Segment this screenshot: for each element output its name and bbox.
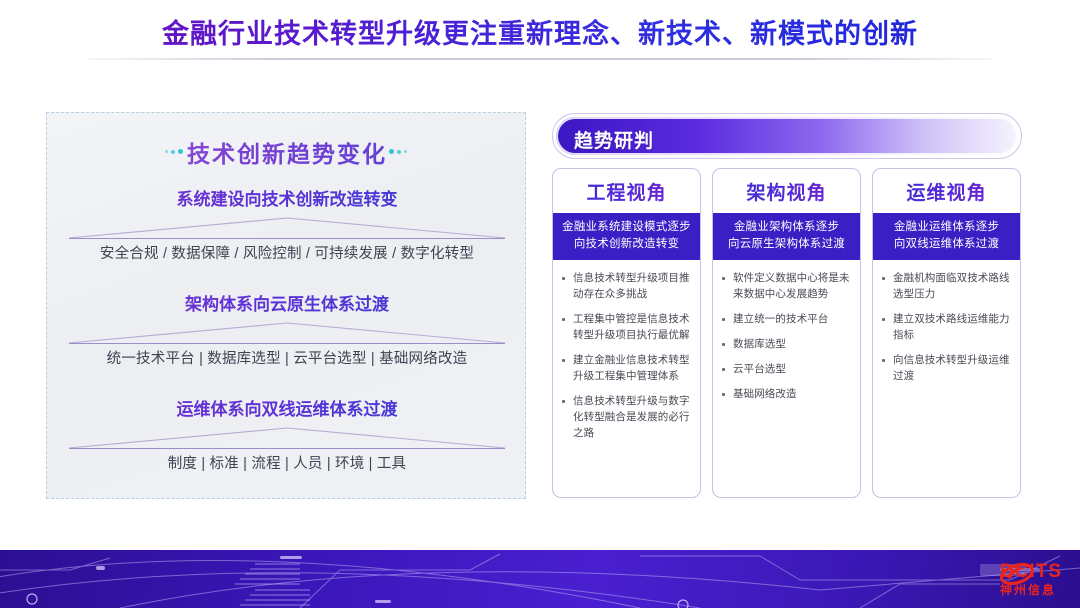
card-3-title: 运维视角	[873, 169, 1020, 213]
card-architecture-perspective[interactable]: 架构视角 金融业架构体系逐步 向云原生架构体系过渡 软件定义数据中心将是未来数据…	[712, 168, 861, 498]
trend-group-1-title: 系统建设向技术创新改造转变	[47, 185, 527, 210]
slide-header: 金融行业技术转型升级更注重新理念、新技术、新模式的创新	[0, 0, 1080, 62]
card-1-band-line-2: 向技术创新改造转变	[558, 236, 695, 253]
list-item: 信息技术转型升级项目推动存在众多挑战	[560, 270, 692, 302]
trend-group-2: 架构体系向云原生体系过渡 统一技术平台 | 数据库选型 | 云平台选型 | 基础…	[47, 290, 527, 368]
list-item: 向信息技术转型升级运维过渡	[880, 352, 1012, 384]
trend-group-2-title: 架构体系向云原生体系过渡	[47, 290, 527, 315]
list-item: 金融机构面临双技术路线选型压力	[880, 270, 1012, 302]
list-item: 工程集中管控是信息技术转型升级项目执行最优解	[560, 311, 692, 343]
trend-banner-label: 趋势研判	[574, 126, 654, 153]
card-engineering-perspective[interactable]: 工程视角 金融业系统建设模式逐步 向技术创新改造转变 信息技术转型升级项目推动存…	[552, 168, 701, 498]
chevron-up-icon-2	[67, 321, 507, 345]
list-item: 基础网络改造	[720, 386, 852, 402]
card-3-body: 金融机构面临双技术路线选型压力 建立双技术路线运维能力指标 向信息技术转型升级运…	[873, 260, 1020, 497]
card-1-band: 金融业系统建设模式逐步 向技术创新改造转变	[553, 213, 700, 260]
left-panel-heading: 技术创新趋势变化	[47, 135, 527, 169]
card-2-title: 架构视角	[713, 169, 860, 213]
chevron-up-icon-3	[67, 426, 507, 450]
card-2-band-line-2: 向云原生架构体系过渡	[718, 236, 855, 253]
card-3-band: 金融业运维体系逐步 向双线运维体系过渡	[873, 213, 1020, 260]
card-2-band-line-1: 金融业架构体系逐步	[718, 219, 855, 236]
list-item: 信息技术转型升级与数字化转型融合是发展的必行之路	[560, 393, 692, 441]
card-1-title: 工程视角	[553, 169, 700, 213]
perspective-cards: 工程视角 金融业系统建设模式逐步 向技术创新改造转变 信息技术转型升级项目推动存…	[552, 168, 1022, 498]
card-3-band-line-2: 向双线运维体系过渡	[878, 236, 1015, 253]
slide-footer: DCITS 神州信息	[0, 550, 1080, 608]
list-item: 数据库选型	[720, 336, 852, 352]
card-1-body: 信息技术转型升级项目推动存在众多挑战 工程集中管控是信息技术转型升级项目执行最优…	[553, 260, 700, 497]
page-title: 金融行业技术转型升级更注重新理念、新技术、新模式的创新	[0, 12, 1080, 51]
trend-group-3: 运维体系向双线运维体系过渡 制度 | 标准 | 流程 | 人员 | 环境 | 工…	[47, 395, 527, 473]
circuit-decoration-icon	[0, 550, 1080, 608]
card-2-body: 软件定义数据中心将是未来数据中心发展趋势 建立统一的技术平台 数据库选型 云平台…	[713, 260, 860, 497]
trend-group-3-title: 运维体系向双线运维体系过渡	[47, 395, 527, 420]
card-1-band-line-1: 金融业系统建设模式逐步	[558, 219, 695, 236]
company-logo: DCITS 神州信息	[1000, 559, 1062, 599]
card-3-band-line-1: 金融业运维体系逐步	[878, 219, 1015, 236]
trend-group-2-items: 统一技术平台 | 数据库选型 | 云平台选型 | 基础网络改造	[47, 347, 527, 368]
trend-group-1: 系统建设向技术创新改造转变 安全合规 / 数据保障 / 风险控制 / 可持续发展…	[47, 185, 527, 263]
trend-group-3-items: 制度 | 标准 | 流程 | 人员 | 环境 | 工具	[47, 452, 527, 473]
chevron-up-icon-1	[67, 216, 507, 240]
list-item: 软件定义数据中心将是未来数据中心发展趋势	[720, 270, 852, 302]
list-item: 云平台选型	[720, 361, 852, 377]
dots-decoration-right-icon	[389, 149, 407, 154]
tech-trend-panel: 技术创新趋势变化 系统建设向技术创新改造转变 安全合规 / 数据保障 / 风险控…	[46, 112, 526, 499]
trend-group-1-items: 安全合规 / 数据保障 / 风险控制 / 可持续发展 / 数字化转型	[47, 242, 527, 263]
list-item: 建立金融业信息技术转型升级工程集中管理体系	[560, 352, 692, 384]
dcits-swirl-icon	[1000, 559, 1034, 589]
title-divider	[88, 58, 992, 60]
dots-decoration-left-icon	[165, 149, 183, 154]
card-operations-perspective[interactable]: 运维视角 金融业运维体系逐步 向双线运维体系过渡 金融机构面临双技术路线选型压力…	[872, 168, 1021, 498]
card-2-band: 金融业架构体系逐步 向云原生架构体系过渡	[713, 213, 860, 260]
list-item: 建立双技术路线运维能力指标	[880, 311, 1012, 343]
list-item: 建立统一的技术平台	[720, 311, 852, 327]
